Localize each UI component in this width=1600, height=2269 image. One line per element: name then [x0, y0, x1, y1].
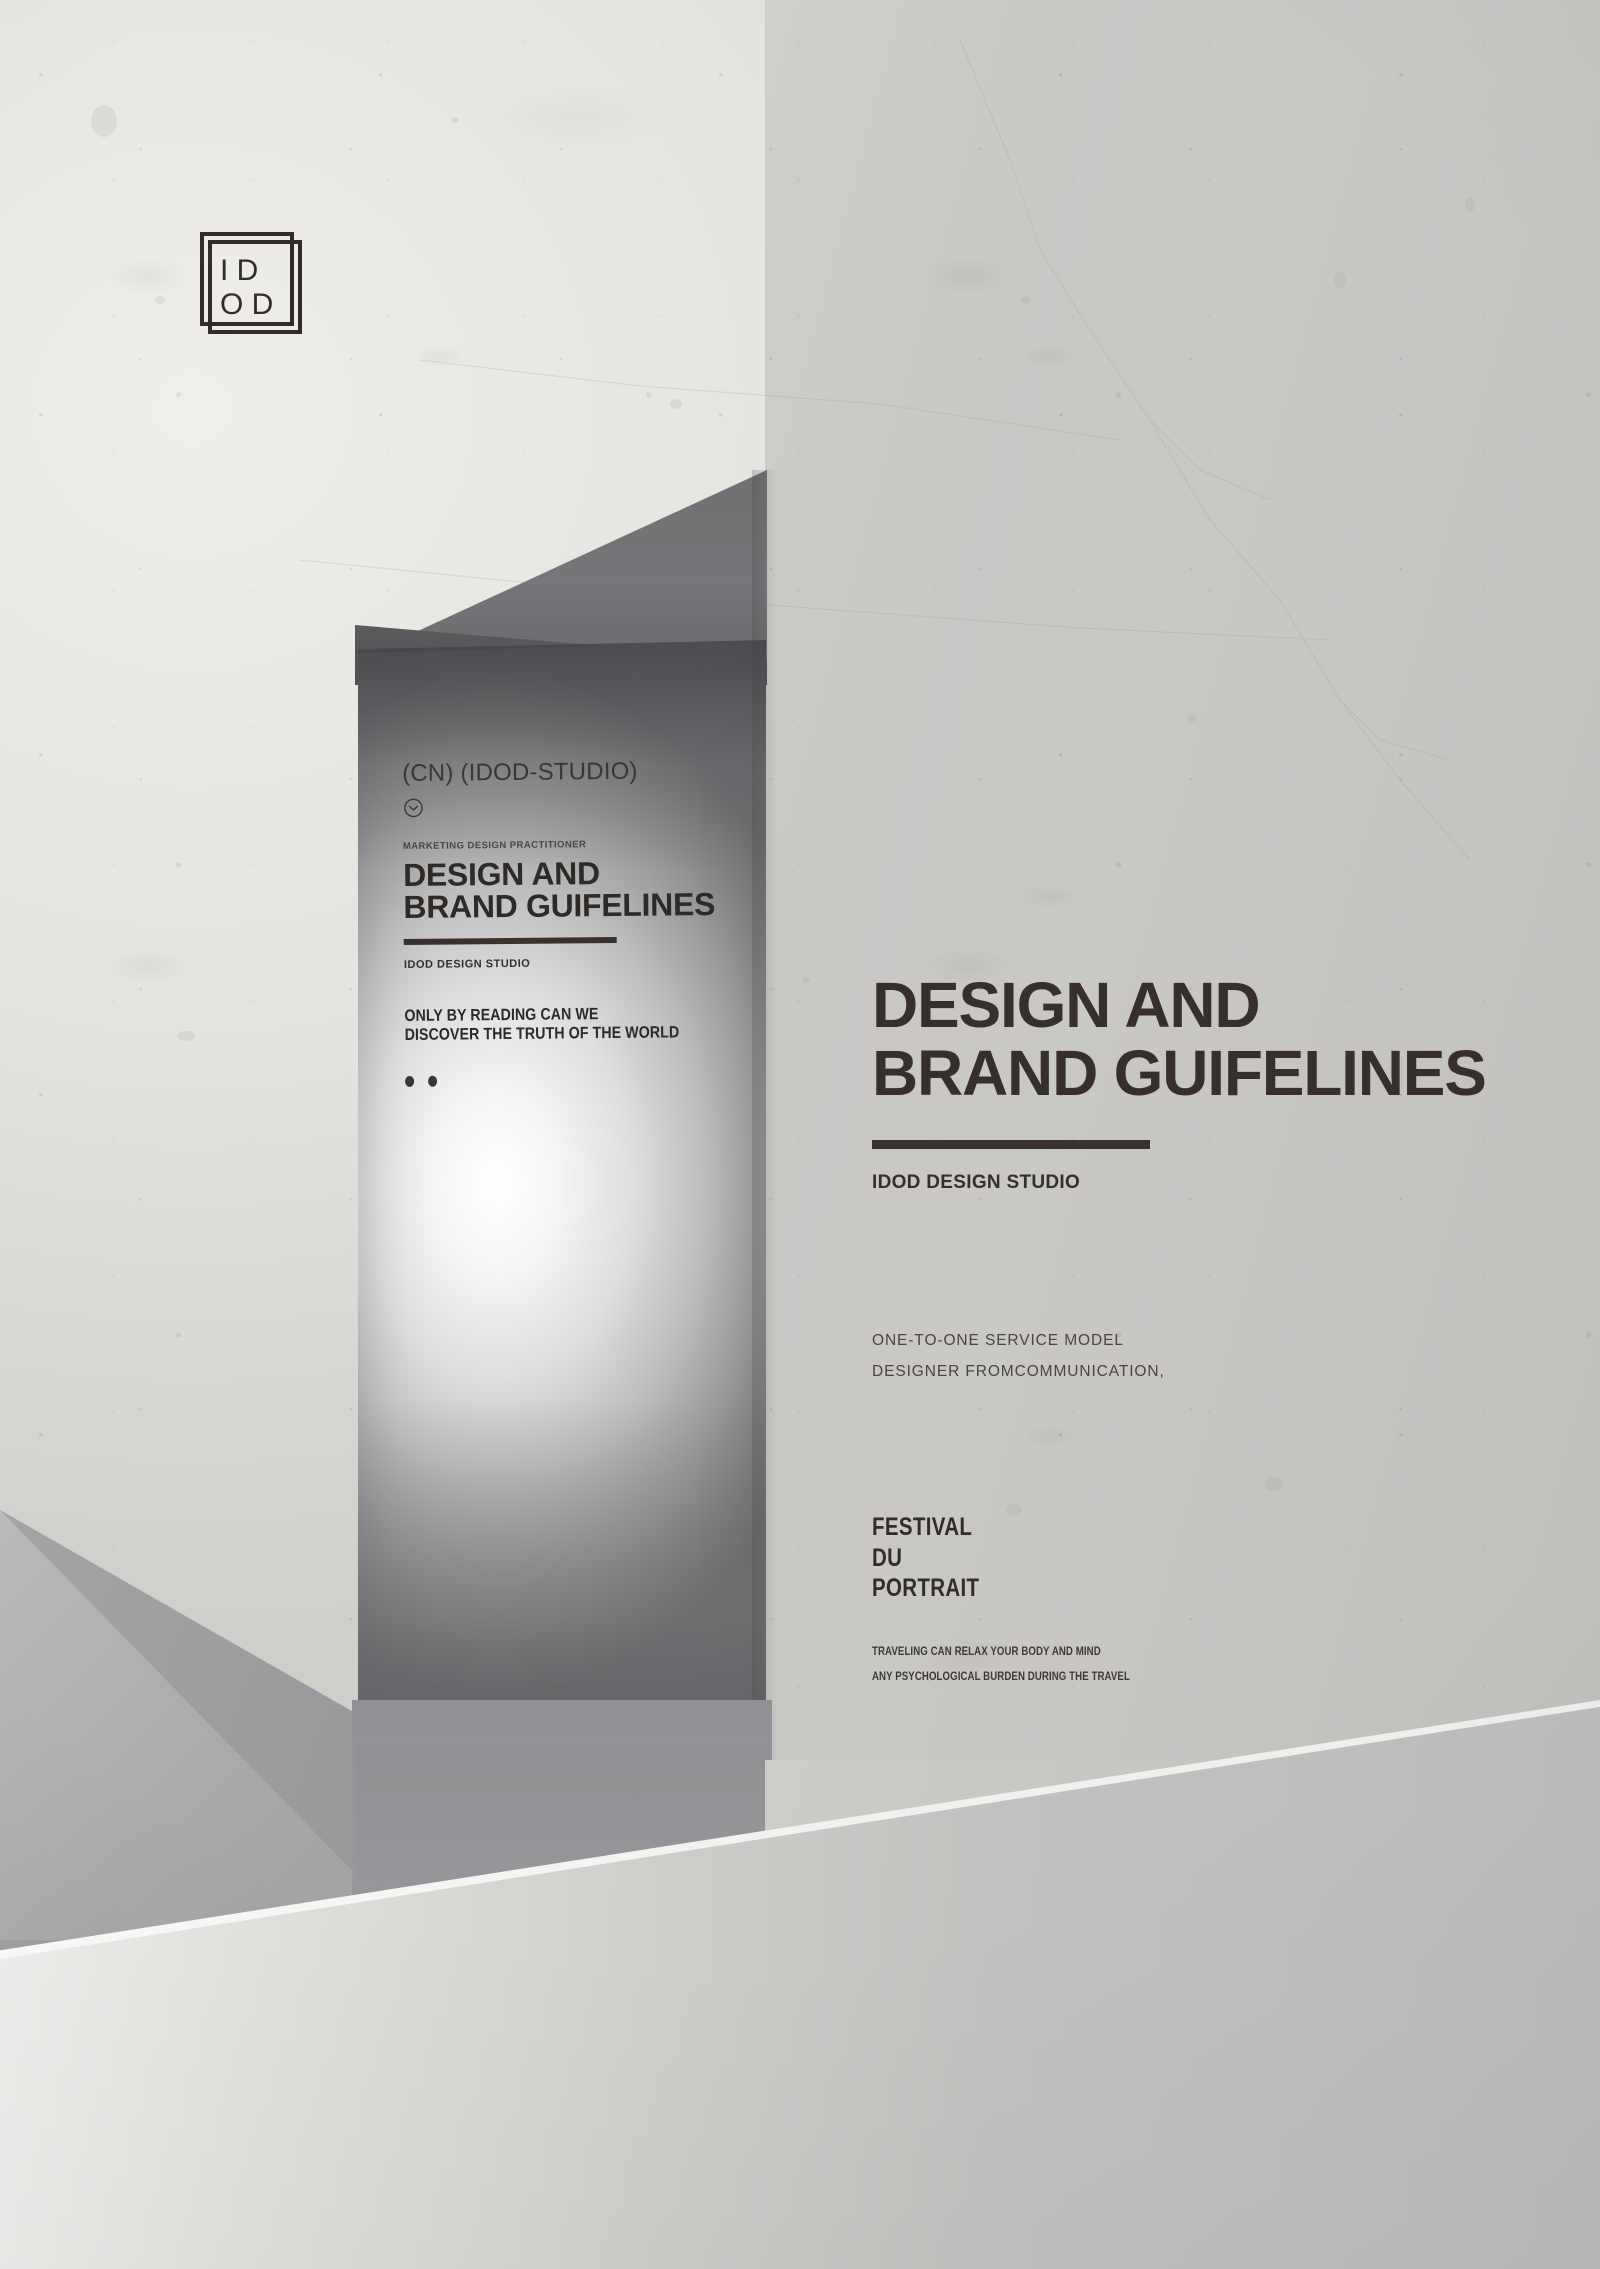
- panel-eyebrow: MARKETING DESIGN PRACTITIONER: [403, 838, 733, 852]
- service-line-2: DESIGNER FROMCOMMUNICATION,: [872, 1356, 1165, 1387]
- inner-panel-content: (CN) (IDOD-STUDIO) MARKETING DESIGN PRAC…: [402, 757, 735, 1087]
- main-title-line-2: BRAND GUIFELINES: [872, 1040, 1512, 1108]
- panel-quote-line-1: ONLY BY READING CAN WE: [404, 1004, 688, 1026]
- festival-line-2: DU: [872, 1543, 979, 1574]
- festival-block: FESTIVAL DU PORTRAIT: [872, 1512, 979, 1604]
- panel-title-line-2: BRAND GUIFELINES: [403, 888, 733, 923]
- chevron-down-circle-icon[interactable]: [402, 797, 424, 819]
- panel-divider-rule: [404, 937, 617, 945]
- service-line-1: ONE-TO-ONE SERVICE MODEL: [872, 1325, 1165, 1356]
- travel-note-block: TRAVELING CAN RELAX YOUR BODY AND MIND A…: [872, 1640, 1130, 1689]
- main-divider-rule: [872, 1140, 1150, 1149]
- panel-studio-label: IDOD DESIGN STUDIO: [404, 956, 734, 971]
- idod-logo[interactable]: I D O D: [196, 228, 308, 338]
- travel-note-line-2: ANY PSYCHOLOGICAL BURDEN DURING THE TRAV…: [872, 1665, 1130, 1690]
- panel-quote-line-2: DISCOVER THE TRUTH OF THE WORLD: [405, 1024, 689, 1046]
- panel-dot: [405, 1076, 414, 1087]
- panel-kicker: (CN) (IDOD-STUDIO): [402, 757, 732, 788]
- main-title-line-1: DESIGN AND: [872, 972, 1512, 1040]
- panel-dot: [428, 1076, 437, 1087]
- festival-line-3: PORTRAIT: [872, 1573, 979, 1604]
- travel-note-line-1: TRAVELING CAN RELAX YOUR BODY AND MIND: [872, 1640, 1130, 1665]
- panel-quote: ONLY BY READING CAN WE DISCOVER THE TRUT…: [404, 1004, 688, 1046]
- poster-canvas: (CN) (IDOD-STUDIO) MARKETING DESIGN PRAC…: [0, 0, 1600, 2269]
- main-title: DESIGN AND BRAND GUIFELINES: [872, 972, 1512, 1108]
- festival-line-1: FESTIVAL: [872, 1512, 979, 1543]
- logo-line-top: I D: [220, 254, 258, 287]
- service-model-block: ONE-TO-ONE SERVICE MODEL DESIGNER FROMCO…: [872, 1325, 1165, 1387]
- main-studio-label: IDOD DESIGN STUDIO: [872, 1172, 1080, 1194]
- logo-line-bottom: O D: [220, 288, 273, 321]
- panel-title: DESIGN AND BRAND GUIFELINES: [403, 856, 734, 923]
